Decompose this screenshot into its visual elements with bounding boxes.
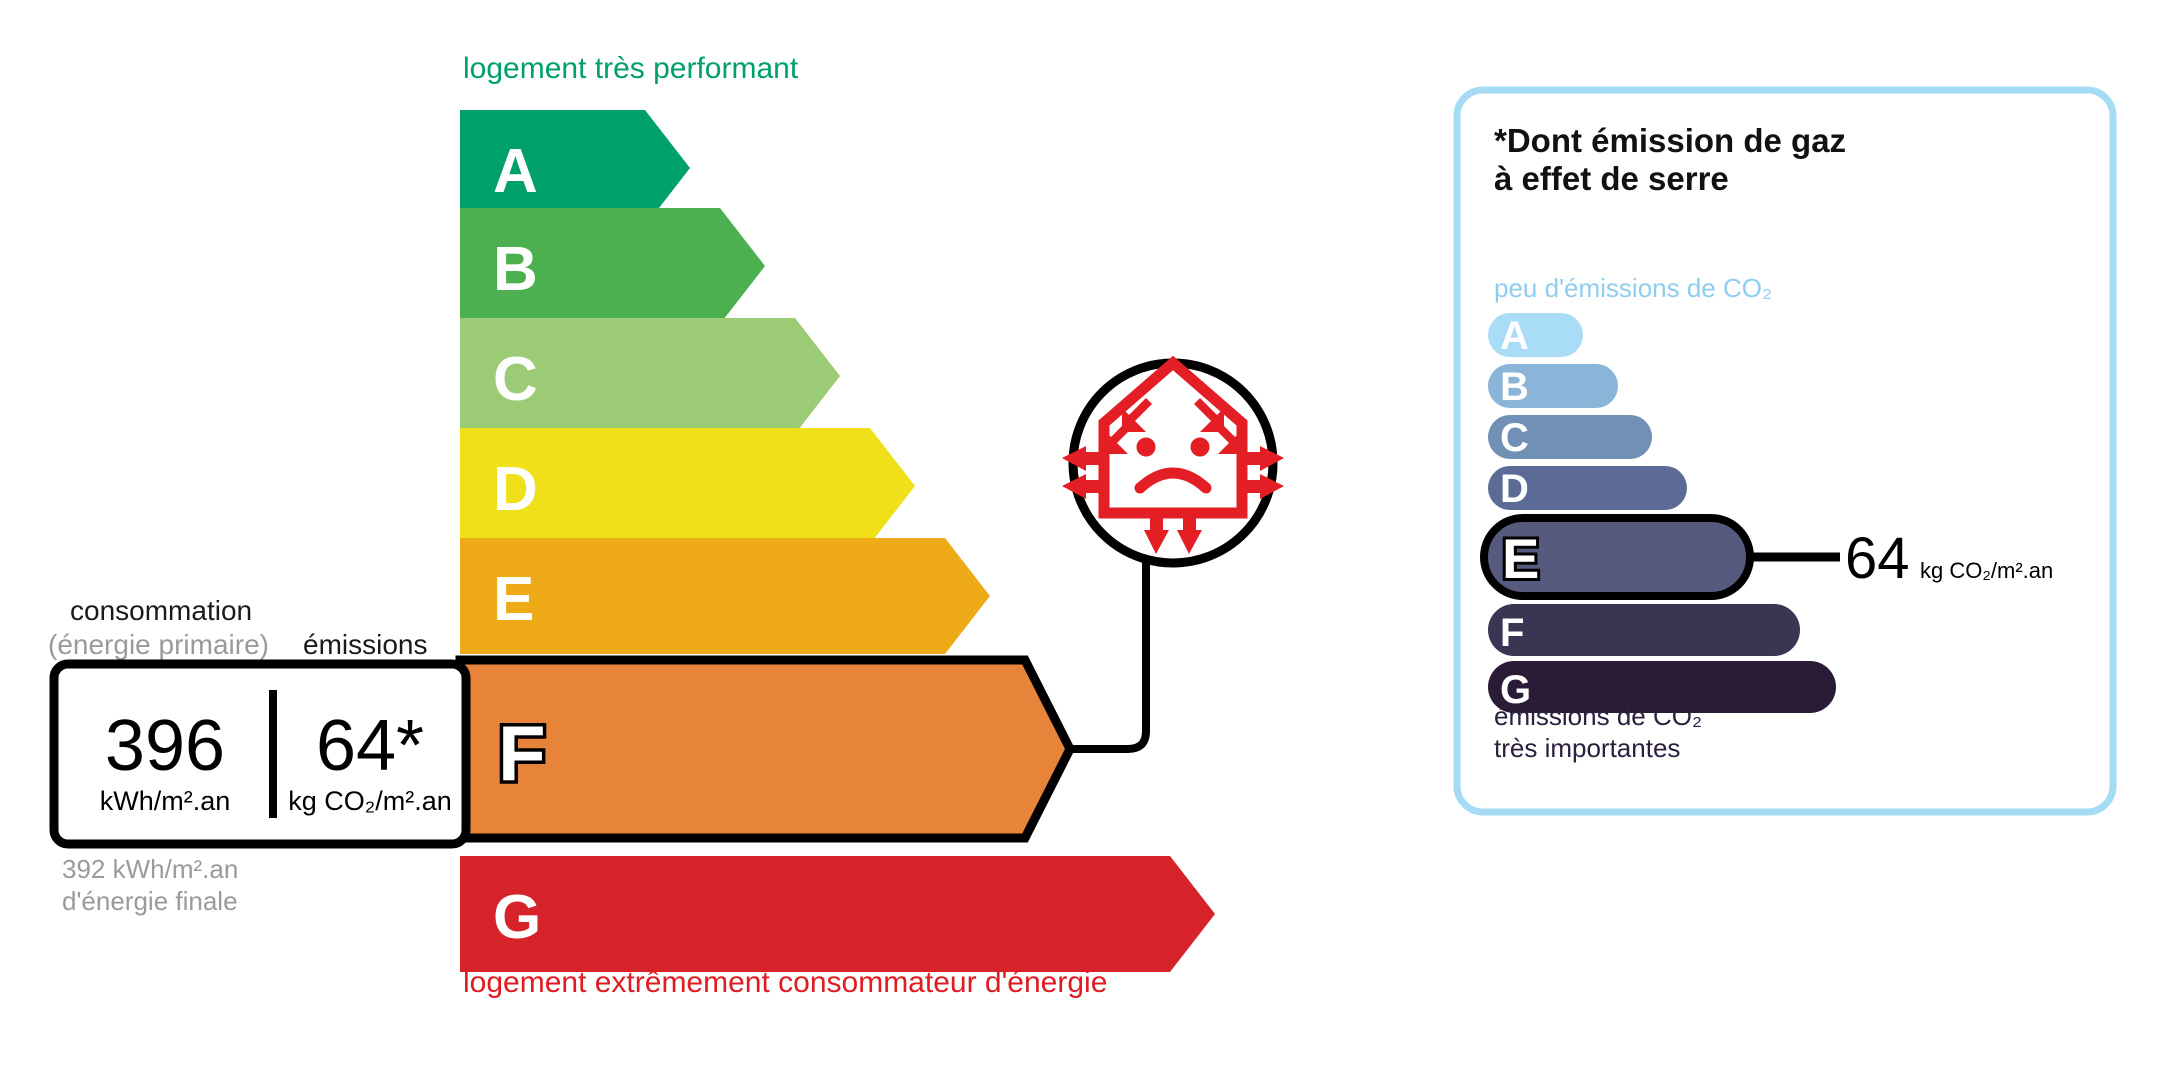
co2-panel: *Dont émission de gaz à effet de serre p…: [1457, 90, 2113, 812]
co2-bar-a[interactable]: A: [1488, 313, 1583, 358]
energy-bar-e-shape: [460, 538, 990, 654]
energy-bar-a-letter: A: [493, 137, 538, 206]
energy-bar-d[interactable]: D: [460, 428, 915, 544]
co2-panel-title-line2: à effet de serre: [1494, 160, 1729, 197]
co2-bar-d-letter: D: [1500, 467, 1529, 511]
co2-caption-top: peu d'émissions de CO₂: [1494, 273, 1772, 303]
co2-bar-f-letter: F: [1500, 611, 1524, 655]
energy-bar-c[interactable]: C: [460, 318, 840, 434]
co2-bar-b-letter: B: [1500, 365, 1529, 409]
co2-bar-c[interactable]: C: [1488, 415, 1652, 460]
co2-panel-title-line1: *Dont émission de gaz: [1494, 122, 1846, 159]
energy-caption-top: logement très performant: [463, 52, 799, 85]
consumption-sublabel: (énergie primaire): [48, 629, 269, 660]
final-energy-line2: d'énergie finale: [62, 886, 238, 916]
co2-caption-bottom-line2: très importantes: [1494, 733, 1680, 763]
dpe-diagram: logement très performant A B C D: [0, 0, 2169, 1079]
energy-bar-g-shape: [460, 856, 1215, 972]
energy-caption-bottom: logement extrêmement consommateur d'éner…: [463, 966, 1107, 999]
co2-bar-c-letter: C: [1500, 416, 1529, 460]
co2-value: 64: [1845, 526, 1910, 591]
energy-bar-f-letter: F: [498, 709, 546, 797]
house-heat-loss-sad-icon[interactable]: [1062, 363, 1284, 563]
value-box-group: consommation (énergie primaire) émission…: [48, 595, 466, 916]
energy-bar-d-letter: D: [493, 455, 538, 524]
consumption-unit: kWh/m².an: [100, 786, 231, 816]
energy-bar-e-letter: E: [493, 565, 534, 634]
co2-caption-bottom-line1: émissions de CO₂: [1494, 701, 1702, 731]
co2-bar-a-letter: A: [1500, 314, 1529, 358]
energy-bar-b[interactable]: B: [460, 208, 765, 324]
emissions-label: émissions: [303, 629, 427, 660]
co2-bar-e-letter: E: [1502, 527, 1539, 590]
house-eye-left: [1137, 438, 1155, 456]
co2-value-unit: kg CO₂/m².an: [1920, 558, 2053, 583]
house-eye-right: [1191, 438, 1209, 456]
energy-bar-f-shape: [460, 660, 1070, 838]
dpe-svg-canvas: logement très performant A B C D: [0, 0, 2169, 1079]
consumption-label: consommation: [70, 595, 252, 626]
final-energy-line1: 392 kWh/m².an: [62, 854, 238, 884]
energy-bar-g-letter: G: [493, 883, 541, 952]
energy-bar-f-selected[interactable]: F: [460, 660, 1070, 838]
badge-connector-line: [1072, 560, 1146, 749]
co2-bar-f-shape: [1488, 604, 1800, 656]
emissions-unit: kg CO₂/m².an: [288, 786, 452, 816]
co2-bar-e-selected[interactable]: E: [1484, 518, 1750, 596]
emissions-value: 64*: [316, 706, 424, 786]
co2-bar-d[interactable]: D: [1488, 466, 1687, 511]
energy-bar-c-letter: C: [493, 345, 538, 414]
energy-bar-e[interactable]: E: [460, 538, 990, 654]
consumption-value: 396: [105, 706, 225, 786]
energy-bar-g[interactable]: G: [460, 856, 1215, 972]
co2-bar-b[interactable]: B: [1488, 364, 1618, 409]
co2-bar-f[interactable]: F: [1488, 604, 1800, 656]
energy-bar-b-letter: B: [493, 235, 538, 304]
